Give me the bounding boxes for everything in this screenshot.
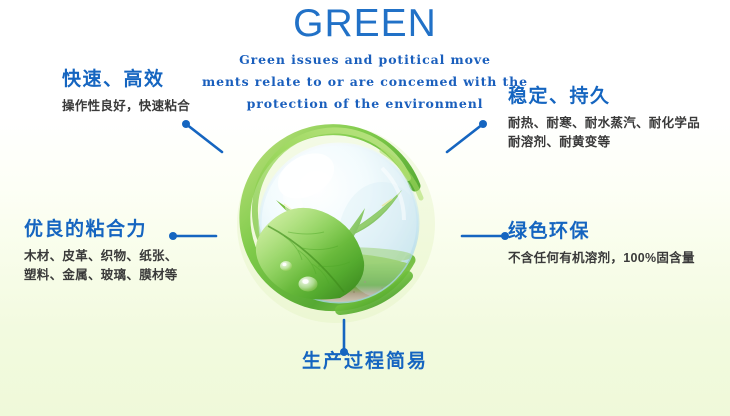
callout-adhesion-title: 优良的粘合力 xyxy=(24,218,178,242)
connector-line-stable xyxy=(443,118,489,156)
callout-adhesion-desc: 木材、皮革、织物、纸张、 塑料、金属、玻璃、膜材等 xyxy=(24,247,178,285)
subtitle-line-1: Green issues and potitical move xyxy=(0,49,730,71)
subtitle-paragraph: Green issues and potitical move ments re… xyxy=(0,49,730,115)
callout-adhesion-desc-line-1: 木材、皮革、织物、纸张、 xyxy=(24,247,178,266)
connector-line-eco xyxy=(460,230,510,242)
callout-stable-desc-line-1: 耐热、耐寒、耐水蒸汽、耐化学品 xyxy=(508,114,700,133)
page-title: GREEN xyxy=(0,2,730,46)
callout-stable-desc-line-2: 耐溶剂、耐黄变等 xyxy=(508,133,700,152)
callout-eco-desc-line-1: 不含任何有机溶剂，100%固含量 xyxy=(508,249,695,268)
header-block: GREEN Green issues and potitical move me… xyxy=(0,2,730,115)
callout-eco: 绿色环保 不含任何有机溶剂，100%固含量 xyxy=(508,220,695,268)
subtitle-line-3: protection of the environmenl xyxy=(0,93,730,115)
callout-adhesion-desc-line-2: 塑料、金属、玻璃、膜材等 xyxy=(24,266,178,285)
callout-process-title: 生产过程简易 xyxy=(0,350,730,374)
callout-process: 生产过程简易 xyxy=(0,350,730,374)
connector-line-fast xyxy=(180,118,226,156)
callout-stable-desc: 耐热、耐寒、耐水蒸汽、耐化学品 耐溶剂、耐黄变等 xyxy=(508,114,700,152)
callout-eco-title: 绿色环保 xyxy=(508,220,695,244)
green-sphere-sprout-emblem xyxy=(232,120,438,326)
subtitle-line-2: ments relate to or are concemed with the xyxy=(0,71,730,93)
green-product-feature-poster: GREEN Green issues and potitical move me… xyxy=(0,0,730,416)
callout-adhesion: 优良的粘合力 木材、皮革、织物、纸张、 塑料、金属、玻璃、膜材等 xyxy=(24,218,178,285)
callout-eco-desc: 不含任何有机溶剂，100%固含量 xyxy=(508,249,695,268)
